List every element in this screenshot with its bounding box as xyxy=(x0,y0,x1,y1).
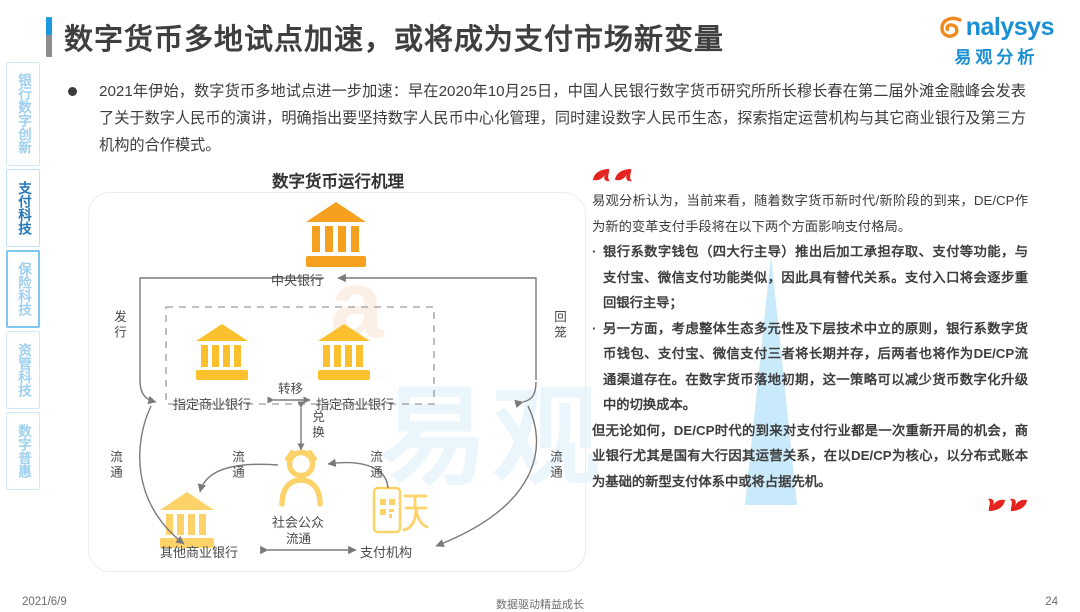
commentary-intro: 易观分析认为，当前来看，随着数字货币新时代/新阶段的到来，DE/CP作为新的变革… xyxy=(592,188,1028,239)
commentary-bullet-list: · 银行系数字钱包（四大行主导）推出后加工承担存取、支付等功能，与支付宝、微信支… xyxy=(592,239,1028,418)
diagram-label-designated-bank-left: 指定商业银行 xyxy=(173,394,251,413)
page-title-row: 数字货币多地试点加速，或将成为支付市场新变量 xyxy=(46,16,724,58)
analysys-logo: nalysys 易观分析 xyxy=(939,12,1054,68)
diagram-edge-issue: 发行 xyxy=(110,310,127,341)
diagram-label-central-bank: 中央银行 xyxy=(271,270,323,289)
other-bank-icon xyxy=(160,492,214,548)
diagram-edge-transfer: 转移 xyxy=(278,378,303,397)
designated-bank-left-icon xyxy=(196,324,248,380)
page-title: 数字货币多地试点加速，或将成为支付市场新变量 xyxy=(64,16,724,58)
logo-wordmark: nalysys xyxy=(966,14,1054,40)
bullet-marker-icon: · xyxy=(592,239,603,316)
quote-close-icon xyxy=(592,496,1028,512)
diagram-label-other-bank: 其他商业银行 xyxy=(160,542,238,561)
sidebar-item-label: 银行数字创新 xyxy=(15,73,31,154)
title-accent-bar xyxy=(46,17,52,57)
lead-bullet: 2021年伊始，数字货币多地试点进一步加速：早在2020年10月25日，中国人民… xyxy=(68,78,1026,159)
commentary-closing: 但无论如何，DE/CP时代的到来对支付行业都是一次重新开局的机会，商业银行尤其是… xyxy=(592,418,1028,495)
sidebar-item-label: 支付科技 xyxy=(15,181,31,235)
footer-slogan: 数据驱动精益成长 xyxy=(0,596,1080,612)
diagram-edge-circulate-public-right: 流通 xyxy=(366,450,383,481)
diagram-label-payment-institution: 支付机构 xyxy=(360,542,412,561)
diagram-edge-circulate-right: 流通 xyxy=(546,450,563,481)
diagram-edge-exchange: 兑换 xyxy=(308,410,325,441)
central-bank-icon xyxy=(306,202,366,267)
logo-chinese-name: 易观分析 xyxy=(939,43,1054,68)
diagram-edge-recall: 回笼 xyxy=(550,310,567,341)
bullet-dot-icon xyxy=(68,87,77,96)
commentary-bullet-text: 银行系数字钱包（四大行主导）推出后加工承担存取、支付等功能，与支付宝、微信支付功… xyxy=(603,239,1028,316)
bullet-marker-icon: · xyxy=(592,316,603,418)
diagram-graphics xyxy=(88,192,584,570)
sidebar-item-digital-inclusive-finance[interactable]: 数字普惠 xyxy=(6,412,40,490)
diagram-edge-circulate-left: 流通 xyxy=(106,450,123,481)
sidebar-item-payment-tech[interactable]: 支付科技 xyxy=(6,169,40,247)
sidebar-item-insurance-tech[interactable]: 保险科技 xyxy=(6,250,40,328)
sidebar: 银行数字创新 支付科技 保险科技 资管科技 数字普惠 xyxy=(6,62,40,493)
payment-institution-icon xyxy=(374,488,427,532)
sidebar-item-label: 资管科技 xyxy=(15,343,31,397)
sidebar-item-label: 数字普惠 xyxy=(15,424,31,478)
commentary-panel: 易观分析认为，当前来看，随着数字货币新时代/新阶段的到来，DE/CP作为新的变革… xyxy=(592,168,1028,512)
public-person-icon xyxy=(282,452,320,504)
list-item: · 银行系数字钱包（四大行主导）推出后加工承担存取、支付等功能，与支付宝、微信支… xyxy=(592,239,1028,316)
footer-page-number: 24 xyxy=(1045,596,1058,608)
list-item: · 另一方面，考虑整体生态多元性及下层技术中立的原则，银行系数字货币钱包、支付宝… xyxy=(592,316,1028,418)
diagram-edge-circulate-bottom: 流通 xyxy=(286,528,311,547)
diagram-label-designated-bank-right: 指定商业银行 xyxy=(316,394,394,413)
lead-bullet-text: 2021年伊始，数字货币多地试点进一步加速：早在2020年10月25日，中国人民… xyxy=(99,78,1026,159)
designated-bank-right-icon xyxy=(318,324,370,380)
logo-wordmark-row: nalysys xyxy=(939,12,1054,42)
sidebar-item-bank-digital-innovation[interactable]: 银行数字创新 xyxy=(6,62,40,166)
quote-open-icon xyxy=(592,168,1028,184)
commentary-bullet-text: 另一方面，考虑整体生态多元性及下层技术中立的原则，银行系数字货币钱包、支付宝、微… xyxy=(603,316,1028,418)
diagram-title: 数字货币运行机理 xyxy=(88,168,588,192)
diagram-edge-circulate-public-left: 流通 xyxy=(228,450,245,481)
sidebar-item-asset-management-tech[interactable]: 资管科技 xyxy=(6,331,40,409)
sidebar-item-label: 保险科技 xyxy=(15,262,31,316)
diagram-canvas: 中央银行 指定商业银行 指定商业银行 社会公众 其他商业银行 支付机构 发行 回… xyxy=(88,192,584,570)
logo-swoosh-a-icon xyxy=(939,14,965,40)
